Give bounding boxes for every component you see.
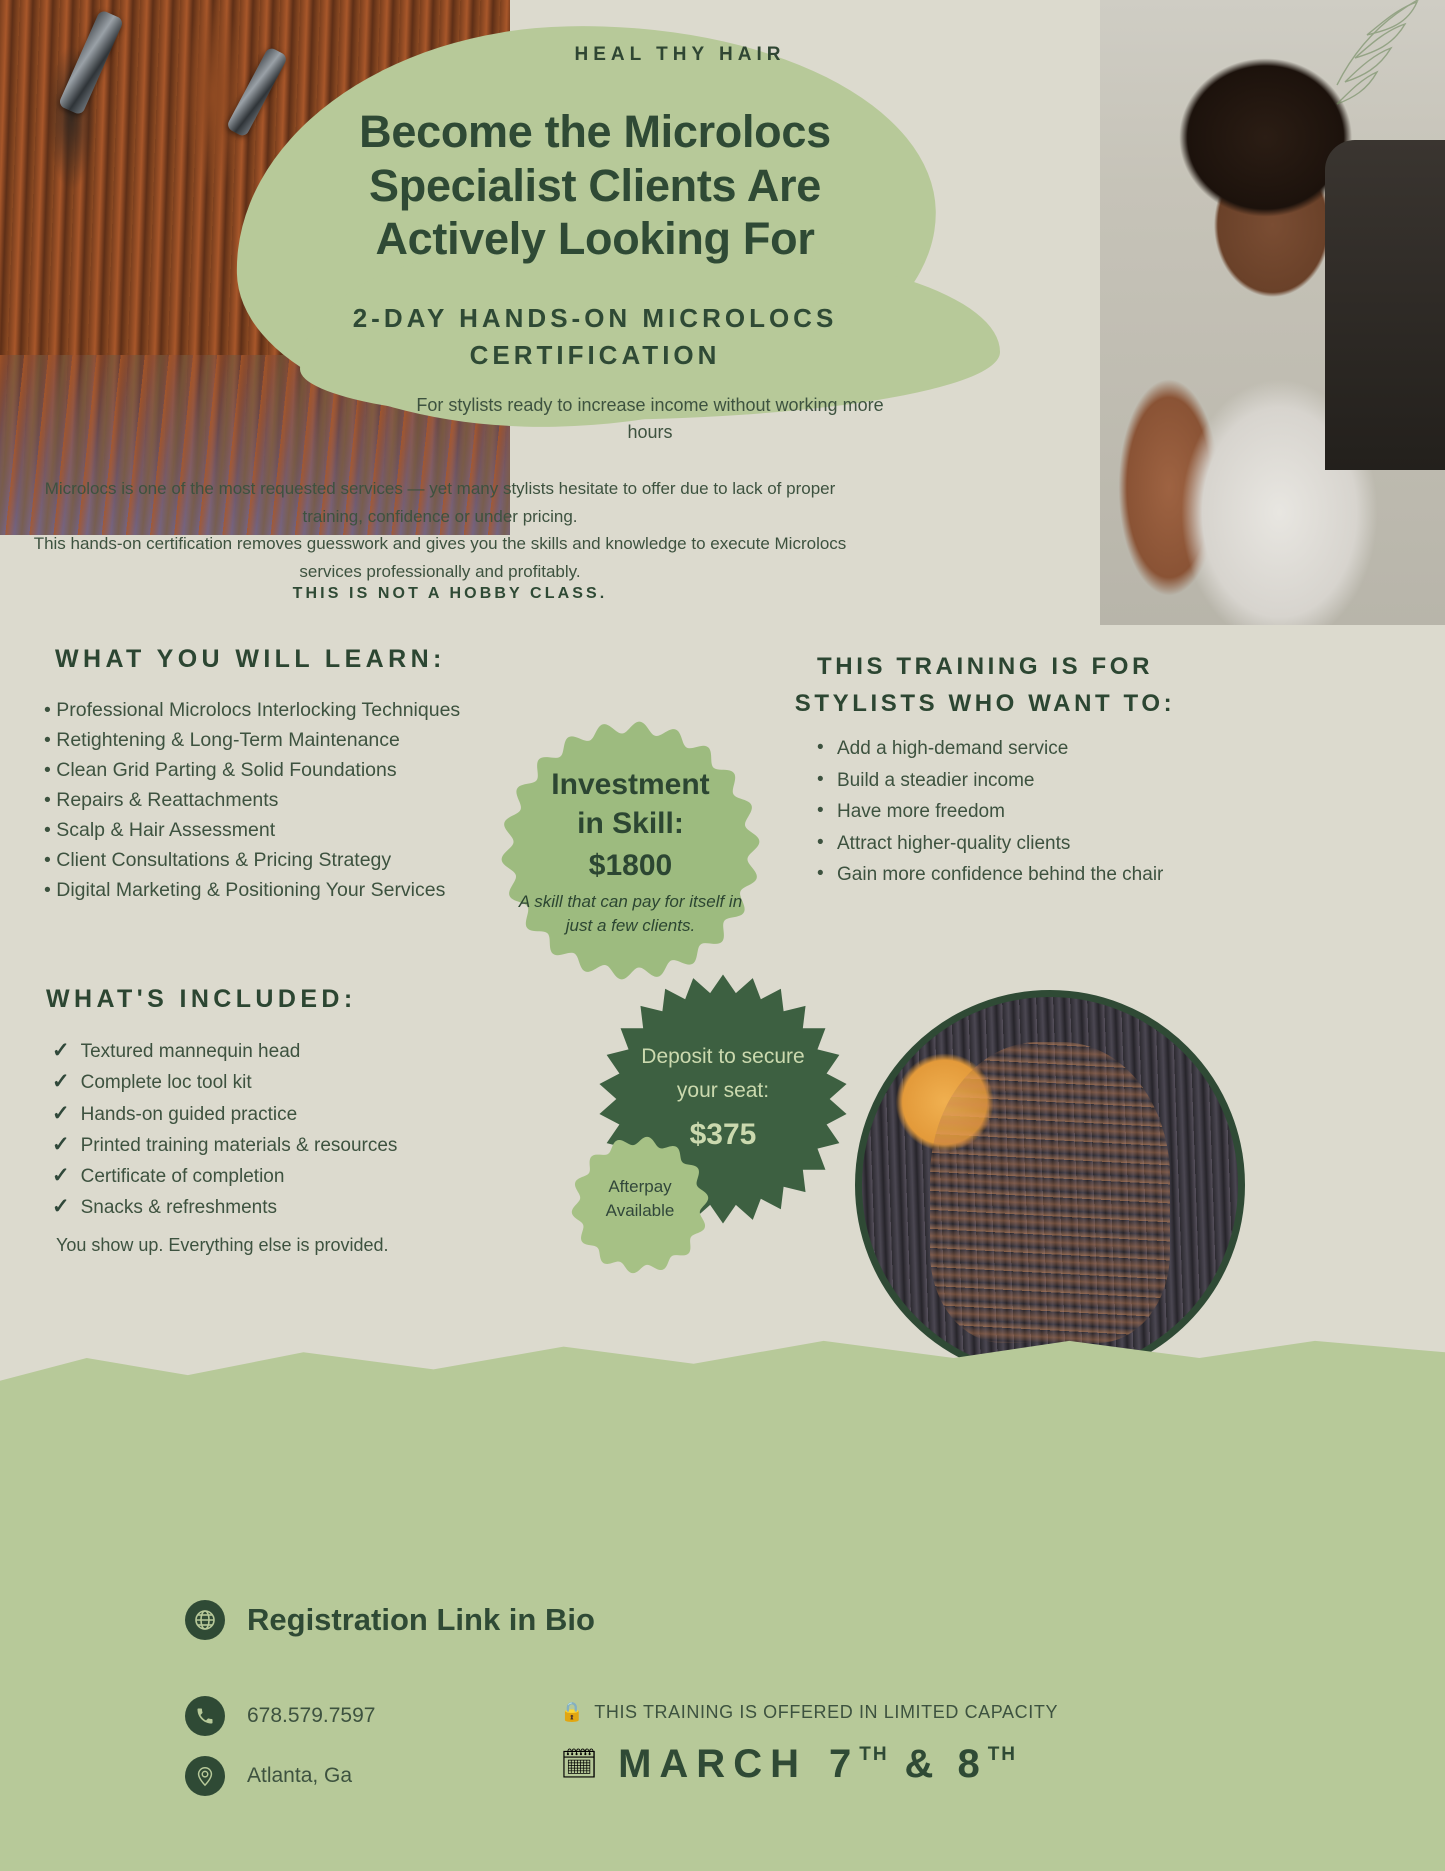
date-suffix-2: TH bbox=[988, 1744, 1017, 1766]
phone-row[interactable]: 678.579.7597 bbox=[185, 1696, 375, 1736]
section-title-audience: THIS TRAINING IS FOR STYLISTS WHO WANT T… bbox=[770, 648, 1200, 722]
audience-list-item: Attract higher-quality clients bbox=[815, 828, 1195, 860]
audience-list-item: Gain more confidence behind the chair bbox=[815, 859, 1195, 891]
audience-list: Add a high-demand serviceBuild a steadie… bbox=[815, 733, 1195, 891]
afterpay-label-line1: Afterpay bbox=[608, 1175, 671, 1199]
learn-list-item: • Digital Marketing & Positioning Your S… bbox=[44, 875, 504, 905]
check-icon: ✓ bbox=[52, 1035, 70, 1066]
check-icon: ✓ bbox=[52, 1129, 70, 1160]
leaf-decoration-icon bbox=[1267, 0, 1437, 140]
location-pin-icon bbox=[185, 1756, 225, 1796]
included-item-label: Snacks & refreshments bbox=[81, 1194, 277, 1222]
lock-icon: 🔒 bbox=[560, 1700, 584, 1724]
investment-note: A skill that can pay for itself in just … bbox=[511, 890, 751, 938]
intro-paragraph: Microlocs is one of the most requested s… bbox=[20, 475, 860, 585]
section-title-included: WHAT'S INCLUDED: bbox=[46, 985, 357, 1014]
check-icon: ✓ bbox=[52, 1066, 70, 1097]
calendar-icon: 🗓 bbox=[560, 1747, 598, 1782]
learn-list: • Professional Microlocs Interlocking Te… bbox=[44, 695, 504, 905]
included-list-item: ✓Printed training materials & resources bbox=[52, 1129, 522, 1160]
microlocs-result-photo bbox=[855, 990, 1245, 1380]
included-item-label: Printed training materials & resources bbox=[81, 1132, 398, 1160]
hair-clip-icon bbox=[226, 46, 289, 138]
audience-list-item: Add a high-demand service bbox=[815, 733, 1195, 765]
included-list-item: ✓Certificate of completion bbox=[52, 1160, 522, 1191]
included-list-item: ✓Complete loc tool kit bbox=[52, 1066, 522, 1097]
date-suffix-1: TH bbox=[859, 1744, 888, 1766]
emphasis-note: THIS IS NOT A HOBBY CLASS. bbox=[20, 585, 880, 603]
date-month: MARCH bbox=[618, 1742, 807, 1787]
flyer-root: HEAL THY HAIR Become the Microlocs Speci… bbox=[0, 0, 1445, 1871]
deposit-label-line1: Deposit to secure bbox=[641, 1040, 804, 1074]
investment-price: $1800 bbox=[589, 849, 672, 883]
included-footer-note: You show up. Everything else is provided… bbox=[56, 1235, 536, 1256]
registration-label: Registration Link in Bio bbox=[247, 1602, 595, 1638]
learn-list-item: • Client Consultations & Pricing Strateg… bbox=[44, 845, 504, 875]
hair-clip-icon bbox=[58, 9, 124, 115]
deposit-label-line2: your seat: bbox=[677, 1074, 769, 1108]
included-item-label: Complete loc tool kit bbox=[81, 1069, 252, 1097]
investment-label-line1: Investment bbox=[551, 766, 709, 804]
investment-badge: Investment in Skill: $1800 A skill that … bbox=[498, 718, 763, 986]
learn-list-item: • Professional Microlocs Interlocking Te… bbox=[44, 695, 504, 725]
included-list: ✓Textured mannequin head✓Complete loc to… bbox=[52, 1035, 522, 1223]
tagline: For stylists ready to increase income wi… bbox=[400, 392, 900, 446]
check-icon: ✓ bbox=[52, 1191, 70, 1222]
section-title-learn: WHAT YOU WILL LEARN: bbox=[55, 645, 446, 674]
brand-name: HEAL THY HAIR bbox=[470, 44, 890, 66]
afterpay-label-line2: Available bbox=[606, 1199, 675, 1223]
learn-list-item: • Clean Grid Parting & Solid Foundations bbox=[44, 755, 504, 785]
event-date-row: 🗓 MARCH 7 TH & 8 TH bbox=[560, 1742, 1017, 1787]
intro-line: This hands-on certification removes gues… bbox=[20, 530, 860, 585]
included-list-item: ✓Hands-on guided practice bbox=[52, 1098, 522, 1129]
subtitle: 2-DAY HANDS-ON MICROLOCS CERTIFICATION bbox=[280, 300, 910, 374]
included-item-label: Textured mannequin head bbox=[81, 1038, 301, 1066]
learn-list-item: • Repairs & Reattachments bbox=[44, 785, 504, 815]
audience-list-item: Have more freedom bbox=[815, 796, 1195, 828]
date-day-1: 7 bbox=[829, 1742, 859, 1787]
location-label: Atlanta, Ga bbox=[247, 1764, 352, 1788]
check-icon: ✓ bbox=[52, 1160, 70, 1191]
intro-line: Microlocs is one of the most requested s… bbox=[20, 475, 860, 530]
check-icon: ✓ bbox=[52, 1098, 70, 1129]
phone-icon bbox=[185, 1696, 225, 1736]
date-day-2: 8 bbox=[957, 1742, 987, 1787]
limited-capacity-note: 🔒 THIS TRAINING IS OFFERED IN LIMITED CA… bbox=[560, 1700, 1058, 1724]
learn-list-item: • Scalp & Hair Assessment bbox=[44, 815, 504, 845]
investment-label-line2: in Skill: bbox=[577, 805, 684, 843]
event-date: MARCH 7 TH & 8 TH bbox=[618, 1742, 1017, 1787]
date-ampersand: & bbox=[905, 1742, 942, 1787]
included-item-label: Hands-on guided practice bbox=[81, 1101, 298, 1129]
phone-number: 678.579.7597 bbox=[247, 1704, 375, 1728]
globe-icon bbox=[185, 1600, 225, 1640]
learn-list-item: • Retightening & Long-Term Maintenance bbox=[44, 725, 504, 755]
registration-row[interactable]: Registration Link in Bio bbox=[185, 1600, 595, 1640]
included-list-item: ✓Snacks & refreshments bbox=[52, 1191, 522, 1222]
included-item-label: Certificate of completion bbox=[81, 1163, 285, 1191]
page-title: Become the Microlocs Specialist Clients … bbox=[300, 105, 890, 266]
location-row[interactable]: Atlanta, Ga bbox=[185, 1756, 352, 1796]
limited-capacity-text: THIS TRAINING IS OFFERED IN LIMITED CAPA… bbox=[594, 1702, 1058, 1723]
included-list-item: ✓Textured mannequin head bbox=[52, 1035, 522, 1066]
audience-list-item: Build a steadier income bbox=[815, 765, 1195, 797]
afterpay-badge: Afterpay Available bbox=[570, 1135, 710, 1263]
